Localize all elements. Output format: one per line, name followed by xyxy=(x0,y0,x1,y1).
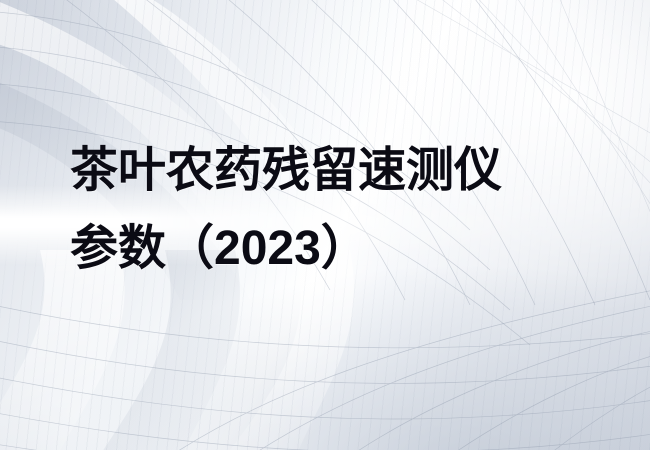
page-title: 茶叶农药残留速测仪 参数（2023） xyxy=(70,132,590,288)
title-line-1: 茶叶农药残留速测仪 xyxy=(70,132,590,210)
title-line-2: 参数（2023） xyxy=(70,210,590,288)
banner-image: 茶叶农药残留速测仪 参数（2023） xyxy=(0,0,650,450)
